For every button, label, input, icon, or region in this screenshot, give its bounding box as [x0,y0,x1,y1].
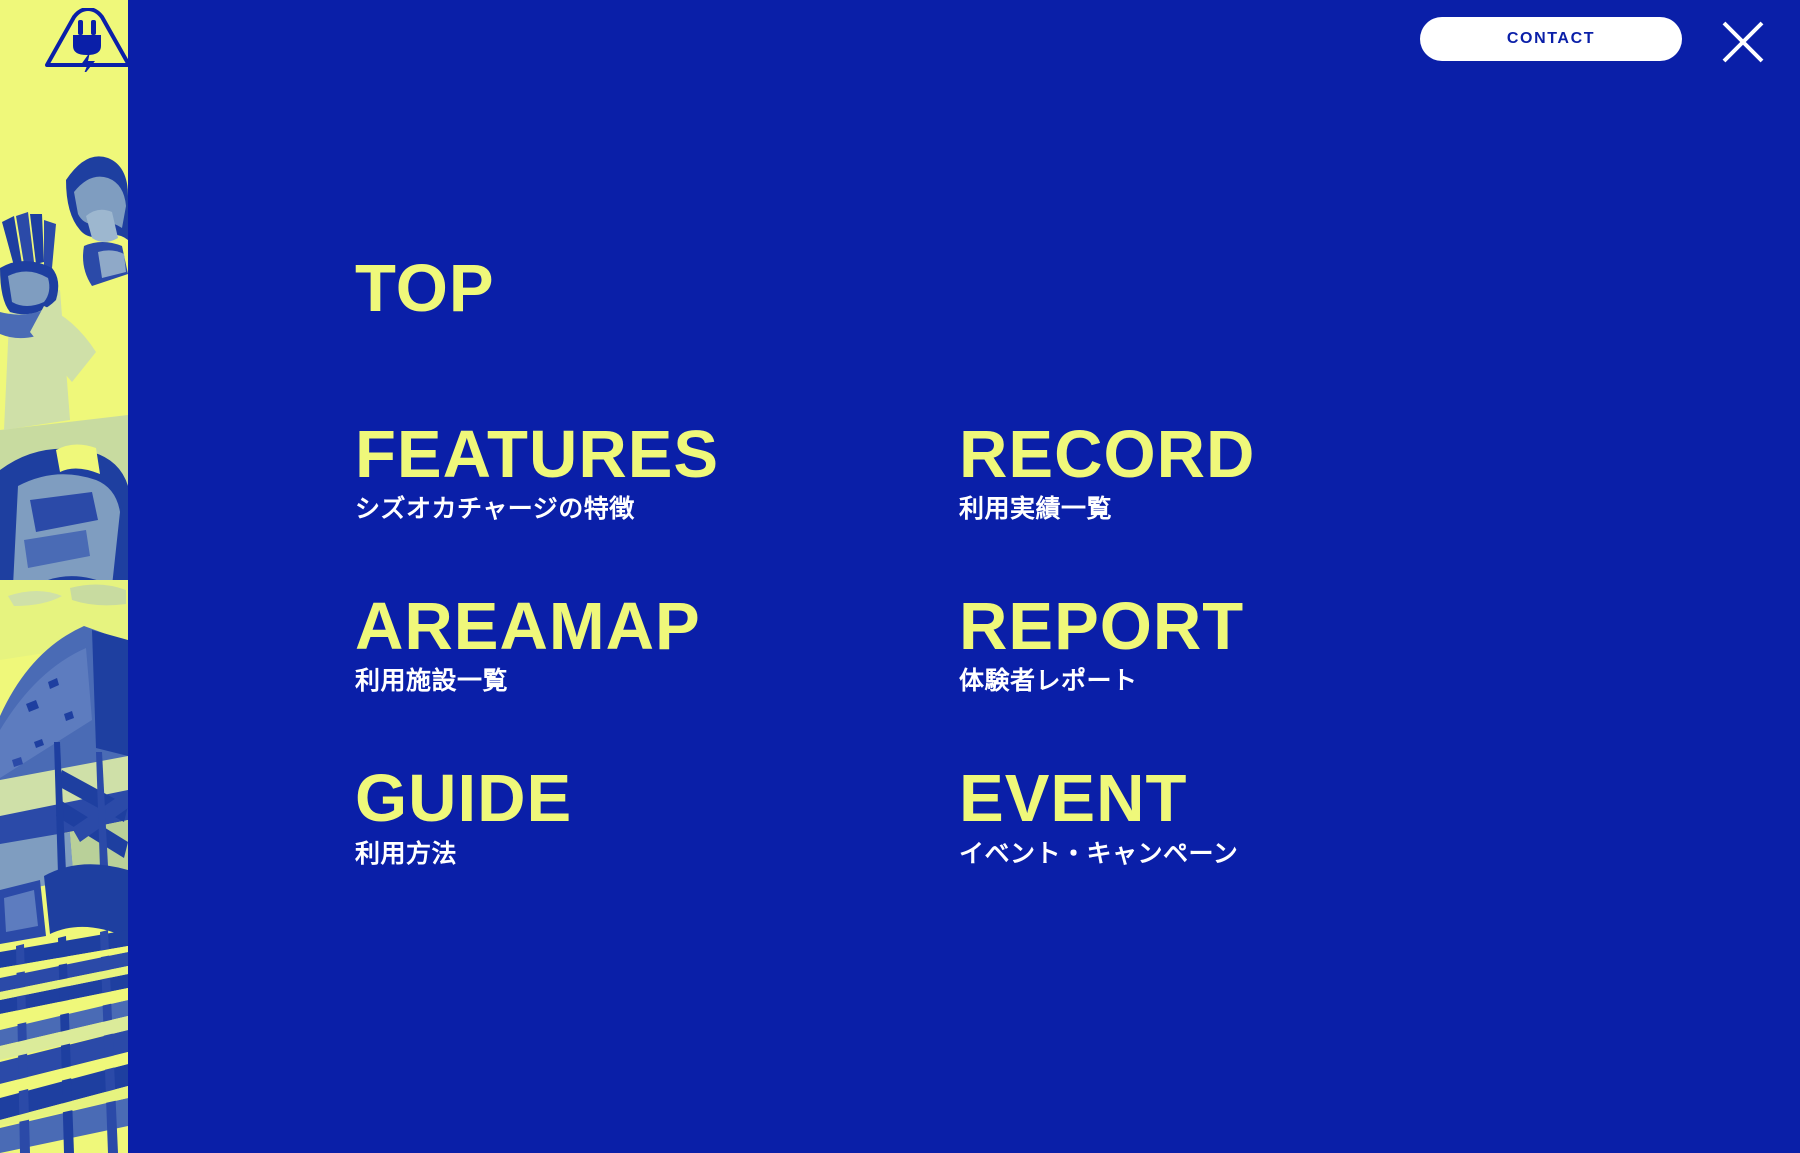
nav-item-guide-label: GUIDE [355,768,572,830]
nav-item-features[interactable]: FEATURES シズオカチャージの特徴 [355,424,719,524]
nav-item-features-sublabel: シズオカチャージの特徴 [355,496,719,524]
nav-item-report[interactable]: REPORT 体験者レポート [959,596,1244,696]
nav-item-event-label: EVENT [959,768,1238,830]
nav-item-record[interactable]: RECORD 利用実績一覧 [959,424,1255,524]
menu-overlay: CONTACT TOP FEATURES シズオカチャージの特徴 RECORD … [0,0,1800,1153]
nav-item-event-sublabel: イベント・キャンペーン [959,841,1238,869]
main-navigation: TOP FEATURES シズオカチャージの特徴 RECORD 利用実績一覧 A… [355,258,1555,868]
nav-item-top[interactable]: TOP [355,258,495,320]
nav-item-areamap[interactable]: AREAMAP 利用施設一覧 [355,596,701,696]
duotone-photo [0,0,128,1153]
mount-fuji-plug-logo-icon [44,8,128,72]
nav-item-report-label: REPORT [959,596,1244,658]
close-button[interactable] [1720,19,1766,65]
nav-item-features-label: FEATURES [355,424,719,486]
logo[interactable] [0,0,128,72]
close-icon [1720,19,1766,65]
sidebar-photo-strip [0,0,128,1153]
nav-item-record-sublabel: 利用実績一覧 [959,496,1255,524]
nav-item-guide[interactable]: GUIDE 利用方法 [355,768,572,868]
nav-item-record-label: RECORD [959,424,1255,486]
header: CONTACT [128,0,1800,90]
nav-grid: FEATURES シズオカチャージの特徴 RECORD 利用実績一覧 AREAM… [355,424,1555,868]
nav-item-areamap-label: AREAMAP [355,596,701,658]
nav-item-event[interactable]: EVENT イベント・キャンペーン [959,768,1238,868]
contact-button[interactable]: CONTACT [1420,17,1682,61]
nav-item-areamap-sublabel: 利用施設一覧 [355,668,701,696]
nav-item-report-sublabel: 体験者レポート [959,668,1244,696]
nav-item-top-label: TOP [355,258,495,320]
nav-item-guide-sublabel: 利用方法 [355,841,572,869]
